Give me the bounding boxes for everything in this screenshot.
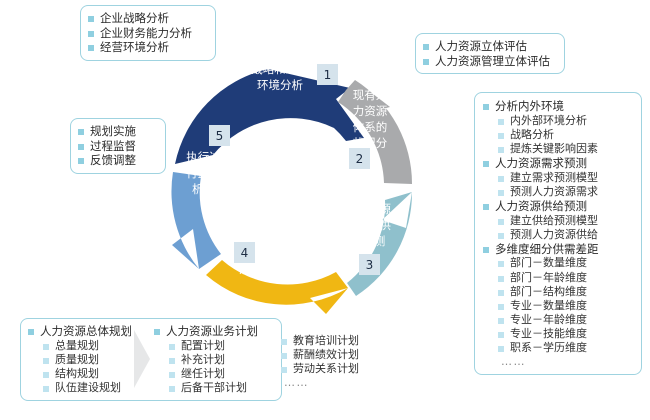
- list-item: 预测人力资源供给: [483, 228, 633, 242]
- bullet-square-icon: [281, 353, 287, 359]
- bullet-square-icon: [483, 247, 489, 253]
- bullet-square-icon: [169, 358, 175, 364]
- list-item-label: 分析内外环境: [495, 99, 564, 114]
- list-item: 反馈调整: [78, 153, 158, 168]
- list-item: 部门－数量维度: [483, 256, 633, 270]
- bullet-square-icon: [483, 161, 489, 167]
- list-item-label: 人力资源供给预测: [495, 199, 587, 214]
- list-item: 企业战略分析: [88, 11, 208, 26]
- bullet-square-icon: [498, 346, 504, 352]
- list-item: 提炼关键影响因素: [483, 142, 633, 156]
- bullet-square-icon: [78, 129, 84, 135]
- list-item-label: 专业－年龄维度: [510, 313, 587, 327]
- bullet-square-icon: [423, 59, 429, 65]
- bullet-square-icon: [498, 261, 504, 267]
- bullet-square-icon: [498, 219, 504, 225]
- wheel-badge-5: 5: [209, 125, 230, 146]
- list-item-label: 人力资源立体评估: [435, 39, 527, 54]
- list-item: 人力资源总体规划: [28, 324, 132, 339]
- list-item: 内外部环境分析: [483, 114, 633, 128]
- list-item: 战略分析: [483, 128, 633, 142]
- list-item-label: 企业财务能力分析: [100, 26, 192, 41]
- list-item: 人力资源供给预测: [483, 199, 633, 214]
- list-item-label: 人力资源总体规划: [40, 324, 132, 339]
- list-item-label: 建立需求预测模型: [510, 171, 598, 185]
- list-item-label: 人力资源管理立体评估: [435, 54, 550, 69]
- wheel-segment-3[interactable]: [347, 192, 412, 296]
- list-item: 人力资源需求预测: [483, 156, 633, 171]
- list-item: 建立需求预测模型: [483, 171, 633, 185]
- list-item-label: 战略分析: [510, 128, 554, 142]
- list-item: 人力资源管理立体评估: [423, 54, 557, 69]
- bullet-square-icon: [88, 31, 94, 37]
- list-item-label: 质量规划: [55, 353, 99, 367]
- list-item-label: 薪酬绩效计划: [293, 348, 359, 362]
- list-item-label: 劳动关系计划: [293, 362, 359, 376]
- ellipsis-text: ……: [266, 376, 359, 389]
- list-item-label: 人力资源业务计划: [166, 324, 258, 339]
- list-item: 职系－学历维度: [483, 341, 633, 355]
- plan-column-2: 人力资源业务计划配置计划补充计划继任计划后备干部计划: [154, 324, 258, 395]
- bullet-square-icon: [88, 45, 94, 51]
- list-item: 专业－数量维度: [483, 299, 633, 313]
- list-item: 劳动关系计划: [266, 362, 359, 376]
- list-item: 后备干部计划: [154, 381, 258, 395]
- list-item: 总量规划: [28, 339, 132, 353]
- list-item: 部门－年龄维度: [483, 271, 633, 285]
- list-item-label: 教育培训计划: [293, 334, 359, 348]
- plan-column-3: 教育培训计划薪酬绩效计划劳动关系计划……: [258, 324, 359, 389]
- bullet-square-icon: [154, 329, 160, 335]
- bullet-square-icon: [498, 318, 504, 324]
- list-item-label: 继任计划: [181, 367, 225, 381]
- hr-planning-cycle-wheel: 战略和经营环境分析 现有人力资源体系的状况分析 人力资源需求与供给预测 人力资源…: [150, 42, 440, 332]
- bullet-square-icon: [498, 147, 504, 153]
- list-item: 建立供给预测模型: [483, 214, 633, 228]
- wheel-svg: [150, 42, 440, 332]
- list-item: 继任计划: [154, 367, 258, 381]
- wheel-badge-1: 1: [317, 64, 338, 85]
- list-item: 队伍建设规划: [28, 381, 132, 395]
- list-item: 企业财务能力分析: [88, 26, 208, 41]
- list-item-label: 配置计划: [181, 339, 225, 353]
- bullet-square-icon: [281, 339, 287, 345]
- bullet-square-icon: [281, 367, 287, 373]
- bullet-square-icon: [498, 190, 504, 196]
- wheel-segment-4[interactable]: [206, 260, 348, 314]
- bullet-square-icon: [43, 386, 49, 392]
- bullet-square-icon: [169, 386, 175, 392]
- bullet-square-icon: [88, 16, 94, 22]
- list-item: 多维度细分供需差距: [483, 242, 633, 257]
- list-item-label: 职系－学历维度: [510, 341, 587, 355]
- list-item-label: 规划实施: [90, 124, 136, 139]
- list-item: 分析内外环境: [483, 99, 633, 114]
- list-item: 配置计划: [154, 339, 258, 353]
- bullet-square-icon: [78, 158, 84, 164]
- list-item-label: 部门－年龄维度: [510, 271, 587, 285]
- bullet-square-icon: [498, 304, 504, 310]
- list-item-label: 补充计划: [181, 353, 225, 367]
- wheel-badge-2: 2: [349, 148, 370, 169]
- list-item-label: 结构规划: [55, 367, 99, 381]
- list-item: 质量规划: [28, 353, 132, 367]
- bullet-square-icon: [498, 233, 504, 239]
- list-item-label: 企业战略分析: [100, 11, 169, 26]
- list-item: 补充计划: [154, 353, 258, 367]
- chevron-right-icon: [132, 324, 154, 394]
- list-item: 过程监督: [78, 139, 158, 154]
- list-item: 人力资源立体评估: [423, 39, 557, 54]
- panel-bottom-plans: 人力资源总体规划总量规划质量规划结构规划队伍建设规划人力资源业务计划配置计划补充…: [20, 318, 282, 401]
- list-item: 预测人力资源需求: [483, 185, 633, 199]
- bullet-square-icon: [423, 44, 429, 50]
- bullet-square-icon: [498, 276, 504, 282]
- bullet-square-icon: [169, 344, 175, 350]
- list-item: 规划实施: [78, 124, 158, 139]
- bullet-square-icon: [483, 204, 489, 210]
- list-item-label: 人力资源需求预测: [495, 156, 587, 171]
- list-item-label: 经营环境分析: [100, 40, 169, 55]
- bullet-square-icon: [78, 144, 84, 150]
- list-item: 部门－结构维度: [483, 285, 633, 299]
- panel-mid-left: 规划实施过程监督反馈调整: [70, 118, 166, 174]
- list-item: 经营环境分析: [88, 40, 208, 55]
- list-item-label: 后备干部计划: [181, 381, 247, 395]
- wheel-segment-5[interactable]: [171, 172, 221, 269]
- bullet-square-icon: [498, 332, 504, 338]
- list-item-label: 内外部环境分析: [510, 114, 587, 128]
- list-item: 薪酬绩效计划: [266, 348, 359, 362]
- list-item-label: 建立供给预测模型: [510, 214, 598, 228]
- bullet-square-icon: [498, 133, 504, 139]
- list-item-label: 预测人力资源需求: [510, 185, 598, 199]
- panel-top-left: 企业战略分析企业财务能力分析经营环境分析: [80, 5, 216, 61]
- panel-right-detail: 分析内外环境内外部环境分析战略分析提炼关键影响因素人力资源需求预测建立需求预测模…: [474, 92, 642, 375]
- list-item: 人力资源业务计划: [154, 324, 258, 339]
- bullet-square-icon: [43, 372, 49, 378]
- list-item-label: 队伍建设规划: [55, 381, 121, 395]
- list-item-label: 反馈调整: [90, 153, 136, 168]
- wheel-badge-3: 3: [359, 254, 380, 275]
- plan-column-1: 人力资源总体规划总量规划质量规划结构规划队伍建设规划: [28, 324, 132, 395]
- list-item-label: 专业－数量维度: [510, 299, 587, 313]
- bullet-square-icon: [498, 119, 504, 125]
- list-item: 结构规划: [28, 367, 132, 381]
- list-item-label: 预测人力资源供给: [510, 228, 598, 242]
- bullet-square-icon: [28, 329, 34, 335]
- bullet-square-icon: [169, 372, 175, 378]
- bullet-square-icon: [43, 358, 49, 364]
- list-item: 专业－技能维度: [483, 327, 633, 341]
- bullet-square-icon: [483, 104, 489, 110]
- ellipsis-text: ……: [483, 355, 633, 368]
- list-item-label: 多维度细分供需差距: [495, 242, 599, 257]
- list-item-label: 过程监督: [90, 139, 136, 154]
- list-item-label: 提炼关键影响因素: [510, 142, 598, 156]
- bullet-square-icon: [498, 290, 504, 296]
- list-item-label: 部门－结构维度: [510, 285, 587, 299]
- panel-top-right: 人力资源立体评估人力资源管理立体评估: [415, 33, 565, 74]
- list-item: 专业－年龄维度: [483, 313, 633, 327]
- list-item-label: 总量规划: [55, 339, 99, 353]
- wheel-badge-4: 4: [234, 242, 255, 263]
- bullet-square-icon: [43, 344, 49, 350]
- list-item-label: 部门－数量维度: [510, 256, 587, 270]
- bullet-square-icon: [498, 176, 504, 182]
- list-item-label: 专业－技能维度: [510, 327, 587, 341]
- list-item: 教育培训计划: [266, 334, 359, 348]
